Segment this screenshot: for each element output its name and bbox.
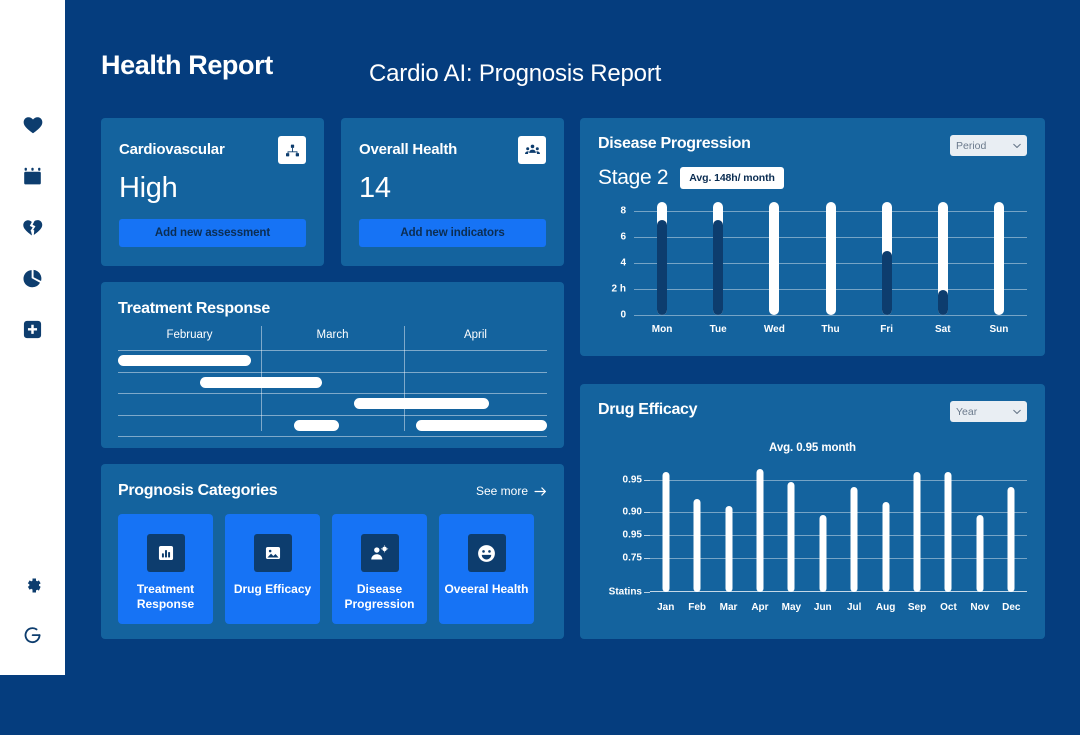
dashboard-root: Health Report Cardio AI: Prognosis Repor…: [0, 0, 1080, 735]
drug-gridline: [650, 558, 1027, 559]
chevron-down-icon: [1013, 409, 1021, 415]
drug-efficacy-average: Avg. 0.95 month: [598, 442, 1027, 454]
average-badge: Avg. 148h/ month: [680, 167, 784, 189]
heart-icon[interactable]: [20, 112, 46, 138]
drug-bar[interactable]: [851, 487, 858, 592]
gantt-gridline: [118, 436, 547, 437]
treatment-gantt-chart: February March April: [118, 329, 547, 441]
drug-gridline: [650, 535, 1027, 536]
drug-bar[interactable]: [882, 502, 889, 592]
card-header: Overall Health: [359, 136, 546, 164]
gantt-column-headers: February March April: [118, 329, 547, 348]
broken-heart-icon[interactable]: [20, 214, 46, 240]
overall-health-card: Overall Health 14 Add new indicators: [341, 118, 564, 266]
card-header: Cardiovascular: [119, 136, 306, 164]
drug-gridline: [650, 512, 1027, 513]
disease-bar-fill: [882, 251, 892, 315]
drug-bar[interactable]: [725, 506, 732, 592]
year-dropdown-value: Year: [956, 406, 977, 418]
prognosis-tile-label: Drug Efficacy: [234, 582, 311, 597]
drug-y-tick-label: 0.90: [598, 506, 642, 517]
gantt-gridline: [118, 415, 547, 416]
drug-bar[interactable]: [1008, 487, 1015, 592]
treatment-response-title: Treatment Response: [118, 300, 547, 318]
disease-bar-slot[interactable]: [872, 202, 902, 315]
prognosis-tile-label: Oveeral Health: [444, 582, 528, 597]
plus-square-icon[interactable]: [20, 316, 46, 342]
gantt-bar[interactable]: [294, 420, 339, 431]
gantt-gridline: [118, 393, 547, 394]
pie-chart-icon[interactable]: [20, 265, 46, 291]
drug-x-tick-label: Jun: [814, 602, 832, 613]
prognosis-tile-label: Disease Progression: [332, 582, 427, 613]
drug-x-tick-label: Jul: [847, 602, 861, 613]
page-title: Health Report: [101, 50, 273, 81]
gantt-gridline: [118, 350, 547, 351]
smiley-icon: [468, 534, 506, 572]
prognosis-categories-title: Prognosis Categories: [118, 482, 277, 500]
disease-bar-fill: [657, 220, 667, 315]
disease-header: Disease Progression Period: [598, 135, 1027, 156]
drug-bar[interactable]: [819, 515, 826, 592]
drug-y-tick-label: 0.95: [598, 529, 642, 540]
cardiovascular-value: High: [119, 172, 306, 205]
drug-axis-tick: [644, 535, 650, 536]
disease-gridline: [634, 315, 1027, 316]
disease-bar-slot[interactable]: [816, 202, 846, 315]
gantt-bar[interactable]: [200, 377, 322, 388]
chevron-down-icon: [1013, 143, 1021, 149]
stage-value: Stage 2: [598, 166, 668, 190]
disease-x-tick-label: Sat: [928, 324, 958, 335]
disease-plot-area: [634, 202, 1027, 315]
drug-x-tick-label: Nov: [970, 602, 989, 613]
disease-y-tick-label: 2 h: [598, 284, 626, 295]
drug-x-tick-label: Dec: [1002, 602, 1020, 613]
prognosis-tile-grid: Treatment Response Drug Efficacy Disease…: [118, 514, 547, 624]
disease-bar-slot[interactable]: [928, 202, 958, 315]
drug-efficacy-title: Drug Efficacy: [598, 401, 697, 419]
arrow-right-icon: [534, 486, 547, 497]
image-icon: [254, 534, 292, 572]
disease-y-tick-label: 8: [598, 206, 626, 217]
disease-bar-track: [769, 202, 779, 315]
drug-x-tick-label: Jan: [657, 602, 674, 613]
drug-header: Drug Efficacy Year: [598, 401, 1027, 422]
disease-bar-slot[interactable]: [984, 202, 1014, 315]
disease-x-tick-label: Wed: [759, 324, 789, 335]
drug-bar[interactable]: [756, 469, 763, 592]
disease-bar-track: [826, 202, 836, 315]
gantt-column-label: February: [118, 329, 261, 348]
page-subtitle: Cardio AI: Prognosis Report: [369, 60, 661, 88]
gantt-gridline: [118, 372, 547, 373]
year-dropdown[interactable]: Year: [950, 401, 1027, 422]
drug-x-tick-label: May: [782, 602, 801, 613]
disease-progression-card: Disease Progression Period Stage 2 Avg. …: [580, 118, 1045, 356]
gantt-column-label: April: [404, 329, 547, 348]
sitemap-icon: [278, 136, 306, 164]
disease-y-tick-label: 0: [598, 310, 626, 321]
see-more-label: See more: [476, 484, 528, 498]
sidebar: [0, 0, 65, 675]
drug-x-tick-label: Aug: [876, 602, 895, 613]
treatment-response-card: Treatment Response February March April: [101, 282, 564, 448]
user-gear-icon: [361, 534, 399, 572]
drug-axis-tick: [644, 512, 650, 513]
drug-axis-tick: [644, 480, 650, 481]
sidebar-bottom-nav: [20, 572, 46, 647]
prognosis-tile-treatment-response[interactable]: Treatment Response: [118, 514, 213, 624]
drug-axis-tick: [644, 592, 650, 593]
prognosis-header: Prognosis Categories See more: [118, 482, 547, 500]
drug-bar[interactable]: [788, 482, 795, 592]
gear-icon[interactable]: [20, 572, 46, 598]
drug-y-tick-label: 0.75: [598, 552, 642, 563]
gantt-bar[interactable]: [354, 398, 489, 409]
gantt-column-label: March: [261, 329, 404, 348]
prognosis-tile-overall-health[interactable]: Oveeral Health: [439, 514, 534, 624]
disease-bar-slot[interactable]: [759, 202, 789, 315]
overall-health-label: Overall Health: [359, 136, 457, 158]
prognosis-tile-label: Treatment Response: [118, 582, 213, 613]
disease-x-tick-label: Tue: [703, 324, 733, 335]
disease-bar-slot[interactable]: [703, 202, 733, 315]
disease-y-tick-label: 6: [598, 232, 626, 243]
drug-x-tick-label: Apr: [751, 602, 768, 613]
disease-x-tick-label: Mon: [647, 324, 677, 335]
add-new-assessment-button[interactable]: Add new assessment: [119, 219, 306, 247]
disease-progression-chart: 02 h468MonTueWedThuFriSatSun: [598, 202, 1027, 337]
drug-x-tick-label: Feb: [688, 602, 706, 613]
disease-x-tick-label: Fri: [872, 324, 902, 335]
cardiovascular-card: Cardiovascular High Add new assessment: [101, 118, 324, 266]
calendar-icon[interactable]: [20, 163, 46, 189]
sidebar-top-nav: [20, 112, 46, 342]
drug-x-tick-label: Sep: [908, 602, 926, 613]
disease-bar-fill: [938, 290, 948, 315]
gantt-divider: [404, 326, 405, 431]
period-dropdown[interactable]: Period: [950, 135, 1027, 156]
drug-x-tick-label: Oct: [940, 602, 957, 613]
gantt-plot-area: [118, 348, 547, 433]
cardiovascular-label: Cardiovascular: [119, 136, 225, 158]
prognosis-categories-card: Prognosis Categories See more Treatment …: [101, 464, 564, 639]
add-new-indicators-button[interactable]: Add new indicators: [359, 219, 546, 247]
period-dropdown-value: Period: [956, 140, 986, 152]
drug-x-tick-label: Mar: [720, 602, 738, 613]
drug-plot-area: [650, 466, 1027, 592]
drug-y-tick-label: Statins: [598, 587, 642, 598]
drug-axis-tick: [644, 558, 650, 559]
gantt-bar[interactable]: [416, 420, 547, 431]
drug-bar[interactable]: [976, 515, 983, 592]
disease-progression-title: Disease Progression: [598, 135, 751, 153]
drug-y-tick-label: 0.95: [598, 474, 642, 485]
users-icon: [518, 136, 546, 164]
logout-icon[interactable]: [20, 621, 46, 647]
stage-row: Stage 2 Avg. 148h/ month: [598, 166, 1027, 190]
overall-health-value: 14: [359, 172, 546, 205]
drug-gridline: [650, 480, 1027, 481]
gantt-bar[interactable]: [118, 355, 251, 366]
disease-x-tick-label: Sun: [984, 324, 1014, 335]
disease-x-tick-label: Thu: [816, 324, 846, 335]
prognosis-tile-drug-efficacy[interactable]: Drug Efficacy: [225, 514, 320, 624]
drug-baseline-axis: [650, 591, 1027, 593]
disease-bar-fill: [713, 220, 723, 315]
see-more-link[interactable]: See more: [476, 484, 547, 498]
drug-efficacy-chart: Statins0.750.950.900.95JanFebMarAprMayJu…: [598, 466, 1027, 616]
drug-efficacy-card: Drug Efficacy Year Avg. 0.95 month Stati…: [580, 384, 1045, 639]
drug-bar[interactable]: [914, 472, 921, 592]
prognosis-tile-disease-progression[interactable]: Disease Progression: [332, 514, 427, 624]
drug-bar[interactable]: [694, 499, 701, 592]
disease-bar-slot[interactable]: [647, 202, 677, 315]
drug-bar[interactable]: [662, 472, 669, 592]
disease-y-tick-label: 4: [598, 258, 626, 269]
disease-bar-track: [994, 202, 1004, 315]
drug-bar[interactable]: [945, 472, 952, 592]
bar-chart-icon: [147, 534, 185, 572]
